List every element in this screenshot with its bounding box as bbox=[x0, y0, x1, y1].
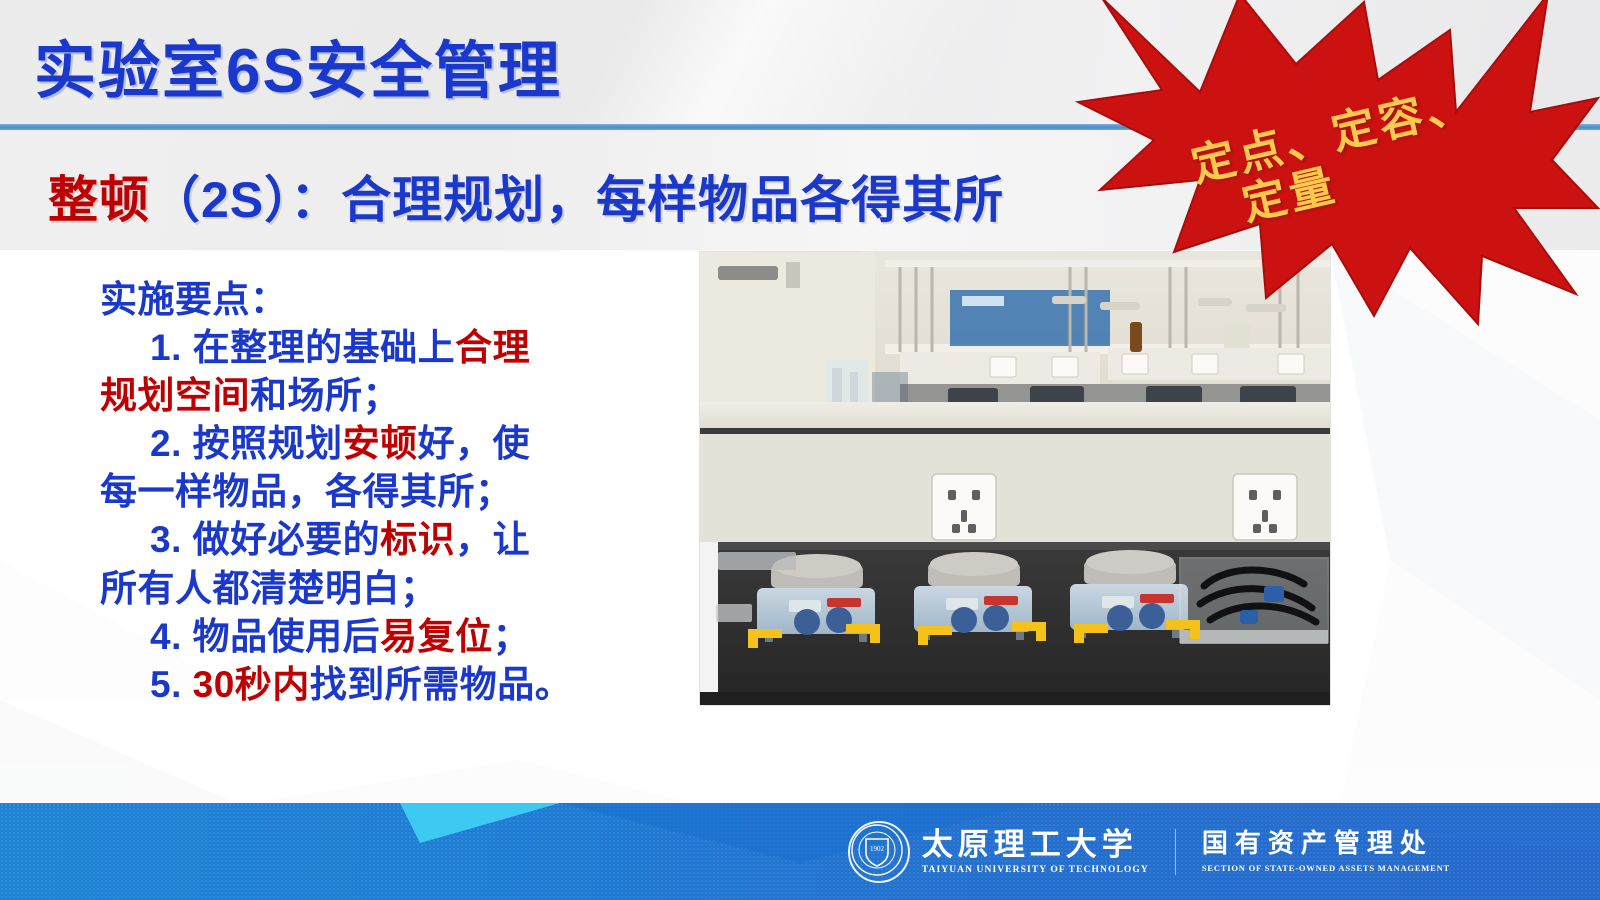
point-highlight: 易复位 bbox=[380, 616, 493, 657]
point-highlight: 标识 bbox=[380, 519, 455, 560]
point-line: 规划空间和场所； bbox=[100, 372, 620, 420]
point-line: 所有人都清楚明白； bbox=[100, 565, 620, 613]
point-highlight: 30秒内 bbox=[193, 664, 310, 705]
point-number: 2. bbox=[150, 423, 193, 464]
point-text: 在整理的基础上 bbox=[193, 327, 456, 368]
university-name-cn: 太原理工大学 bbox=[922, 829, 1149, 860]
point-highlight: 合理 bbox=[455, 327, 530, 368]
point-text: 好，使 bbox=[418, 423, 531, 464]
point-number: 1. bbox=[150, 327, 193, 368]
point-line: 1. 在整理的基础上合理 bbox=[100, 324, 620, 372]
university-name-en: TAIYUAN UNIVERSITY OF TECHNOLOGY bbox=[922, 865, 1149, 875]
subtitle-emphasis: 整顿 bbox=[48, 172, 150, 228]
emblem-year: 1902 bbox=[870, 845, 885, 853]
point-line: 5. 30秒内找到所需物品。 bbox=[100, 661, 620, 709]
point-number: 3. bbox=[150, 519, 193, 560]
point-text: 按照规划 bbox=[193, 423, 343, 464]
section-subtitle: 整顿（2S）：合理规划，每样物品各得其所 bbox=[48, 160, 1004, 232]
point-text: 每一样物品，各得其所； bbox=[100, 471, 513, 512]
department-name-cn: 国有资产管理处 bbox=[1202, 831, 1450, 857]
point-text: 做好必要的 bbox=[193, 519, 381, 560]
point-number: 4. bbox=[150, 616, 193, 657]
point-text: 所有人都清楚明白； bbox=[100, 568, 438, 609]
point-highlight: 规划空间 bbox=[100, 375, 250, 416]
point-text: 找到所需物品。 bbox=[310, 664, 573, 705]
logo-separator bbox=[1175, 829, 1176, 875]
university-name-block: 太原理工大学 TAIYUAN UNIVERSITY OF TECHNOLOGY bbox=[922, 829, 1149, 875]
subtitle-rest: （2S）：合理规划，每样物品各得其所 bbox=[150, 172, 1004, 228]
point-text: 物品使用后 bbox=[193, 616, 381, 657]
point-line: 每一样物品，各得其所； bbox=[100, 468, 620, 516]
footer-logo: 1902 太原理工大学 TAIYUAN UNIVERSITY OF TECHNO… bbox=[848, 803, 1450, 900]
point-text: ，让 bbox=[455, 519, 530, 560]
point-highlight: 安顿 bbox=[343, 423, 418, 464]
department-name-block: 国有资产管理处 SECTION OF STATE-OWNED ASSETS MA… bbox=[1202, 831, 1450, 873]
point-line: 3. 做好必要的标识，让 bbox=[100, 516, 620, 564]
callout-starburst: 定点、定容、 定量 bbox=[1078, 0, 1598, 324]
point-text: 和场所； bbox=[250, 375, 400, 416]
point-number: 5. bbox=[150, 664, 193, 705]
points-heading: 实施要点： bbox=[100, 276, 620, 324]
page-title: 实验室6S安全管理 bbox=[34, 20, 562, 110]
point-line: 4. 物品使用后易复位； bbox=[100, 613, 620, 661]
implementation-points: 实施要点： 1. 在整理的基础上合理规划空间和场所；2. 按照规划安顿好，使每一… bbox=[100, 276, 620, 709]
university-emblem-icon: 1902 bbox=[848, 821, 910, 883]
point-line: 2. 按照规划安顿好，使 bbox=[100, 420, 620, 468]
points-list: 1. 在整理的基础上合理规划空间和场所；2. 按照规划安顿好，使每一样物品，各得… bbox=[100, 324, 620, 709]
department-name-en: SECTION OF STATE-OWNED ASSETS MANAGEMENT bbox=[1202, 863, 1450, 873]
point-text: ； bbox=[493, 616, 531, 657]
slide-root: 实验室6S安全管理 整顿（2S）：合理规划，每样物品各得其所 实施要点： 1. … bbox=[0, 0, 1600, 900]
